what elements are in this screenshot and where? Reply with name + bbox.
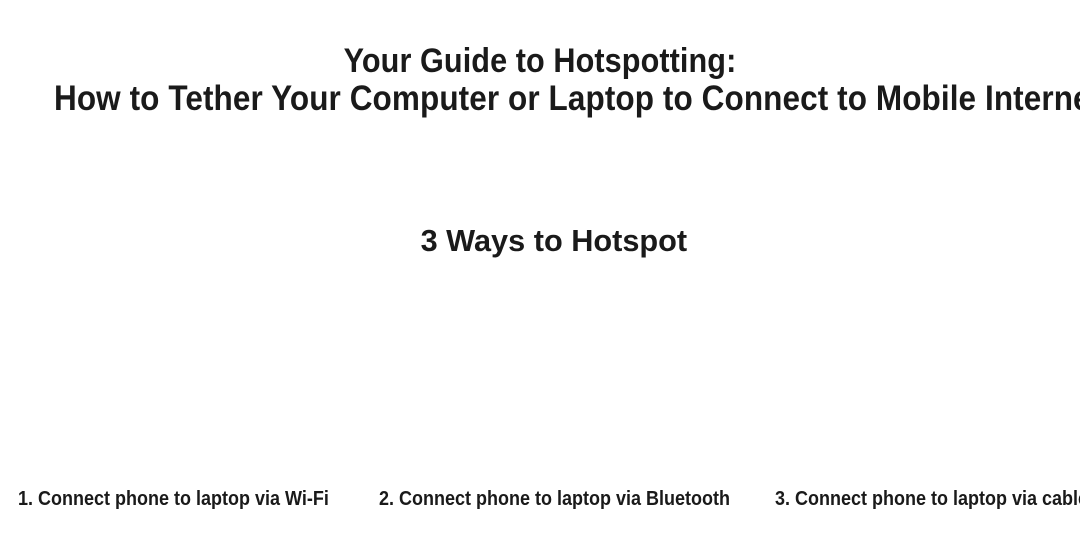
infographic-page: Your Guide to Hotspotting: How to Tether… [0, 0, 1080, 552]
page-title-line-1: Your Guide to Hotspotting: [54, 42, 1026, 80]
illustration-band [0, 272, 1080, 484]
illustration-slot-wifi [0, 272, 360, 484]
illustration-slot-bluetooth [360, 272, 720, 484]
illustration-slot-cable [720, 272, 1080, 484]
step-caption-cable: 3. Connect phone to laptop via cable [775, 486, 1080, 512]
page-title-line-2: How to Tether Your Computer or Laptop to… [54, 80, 1026, 118]
step-captions-row: 1. Connect phone to laptop via Wi-Fi 2. … [0, 486, 1080, 514]
step-caption-wifi: 1. Connect phone to laptop via Wi-Fi [18, 486, 329, 512]
step-caption-bluetooth: 2. Connect phone to laptop via Bluetooth [379, 486, 730, 512]
page-title: Your Guide to Hotspotting: How to Tether… [54, 42, 1026, 118]
section-heading: 3 Ways to Hotspot [19, 222, 1080, 260]
